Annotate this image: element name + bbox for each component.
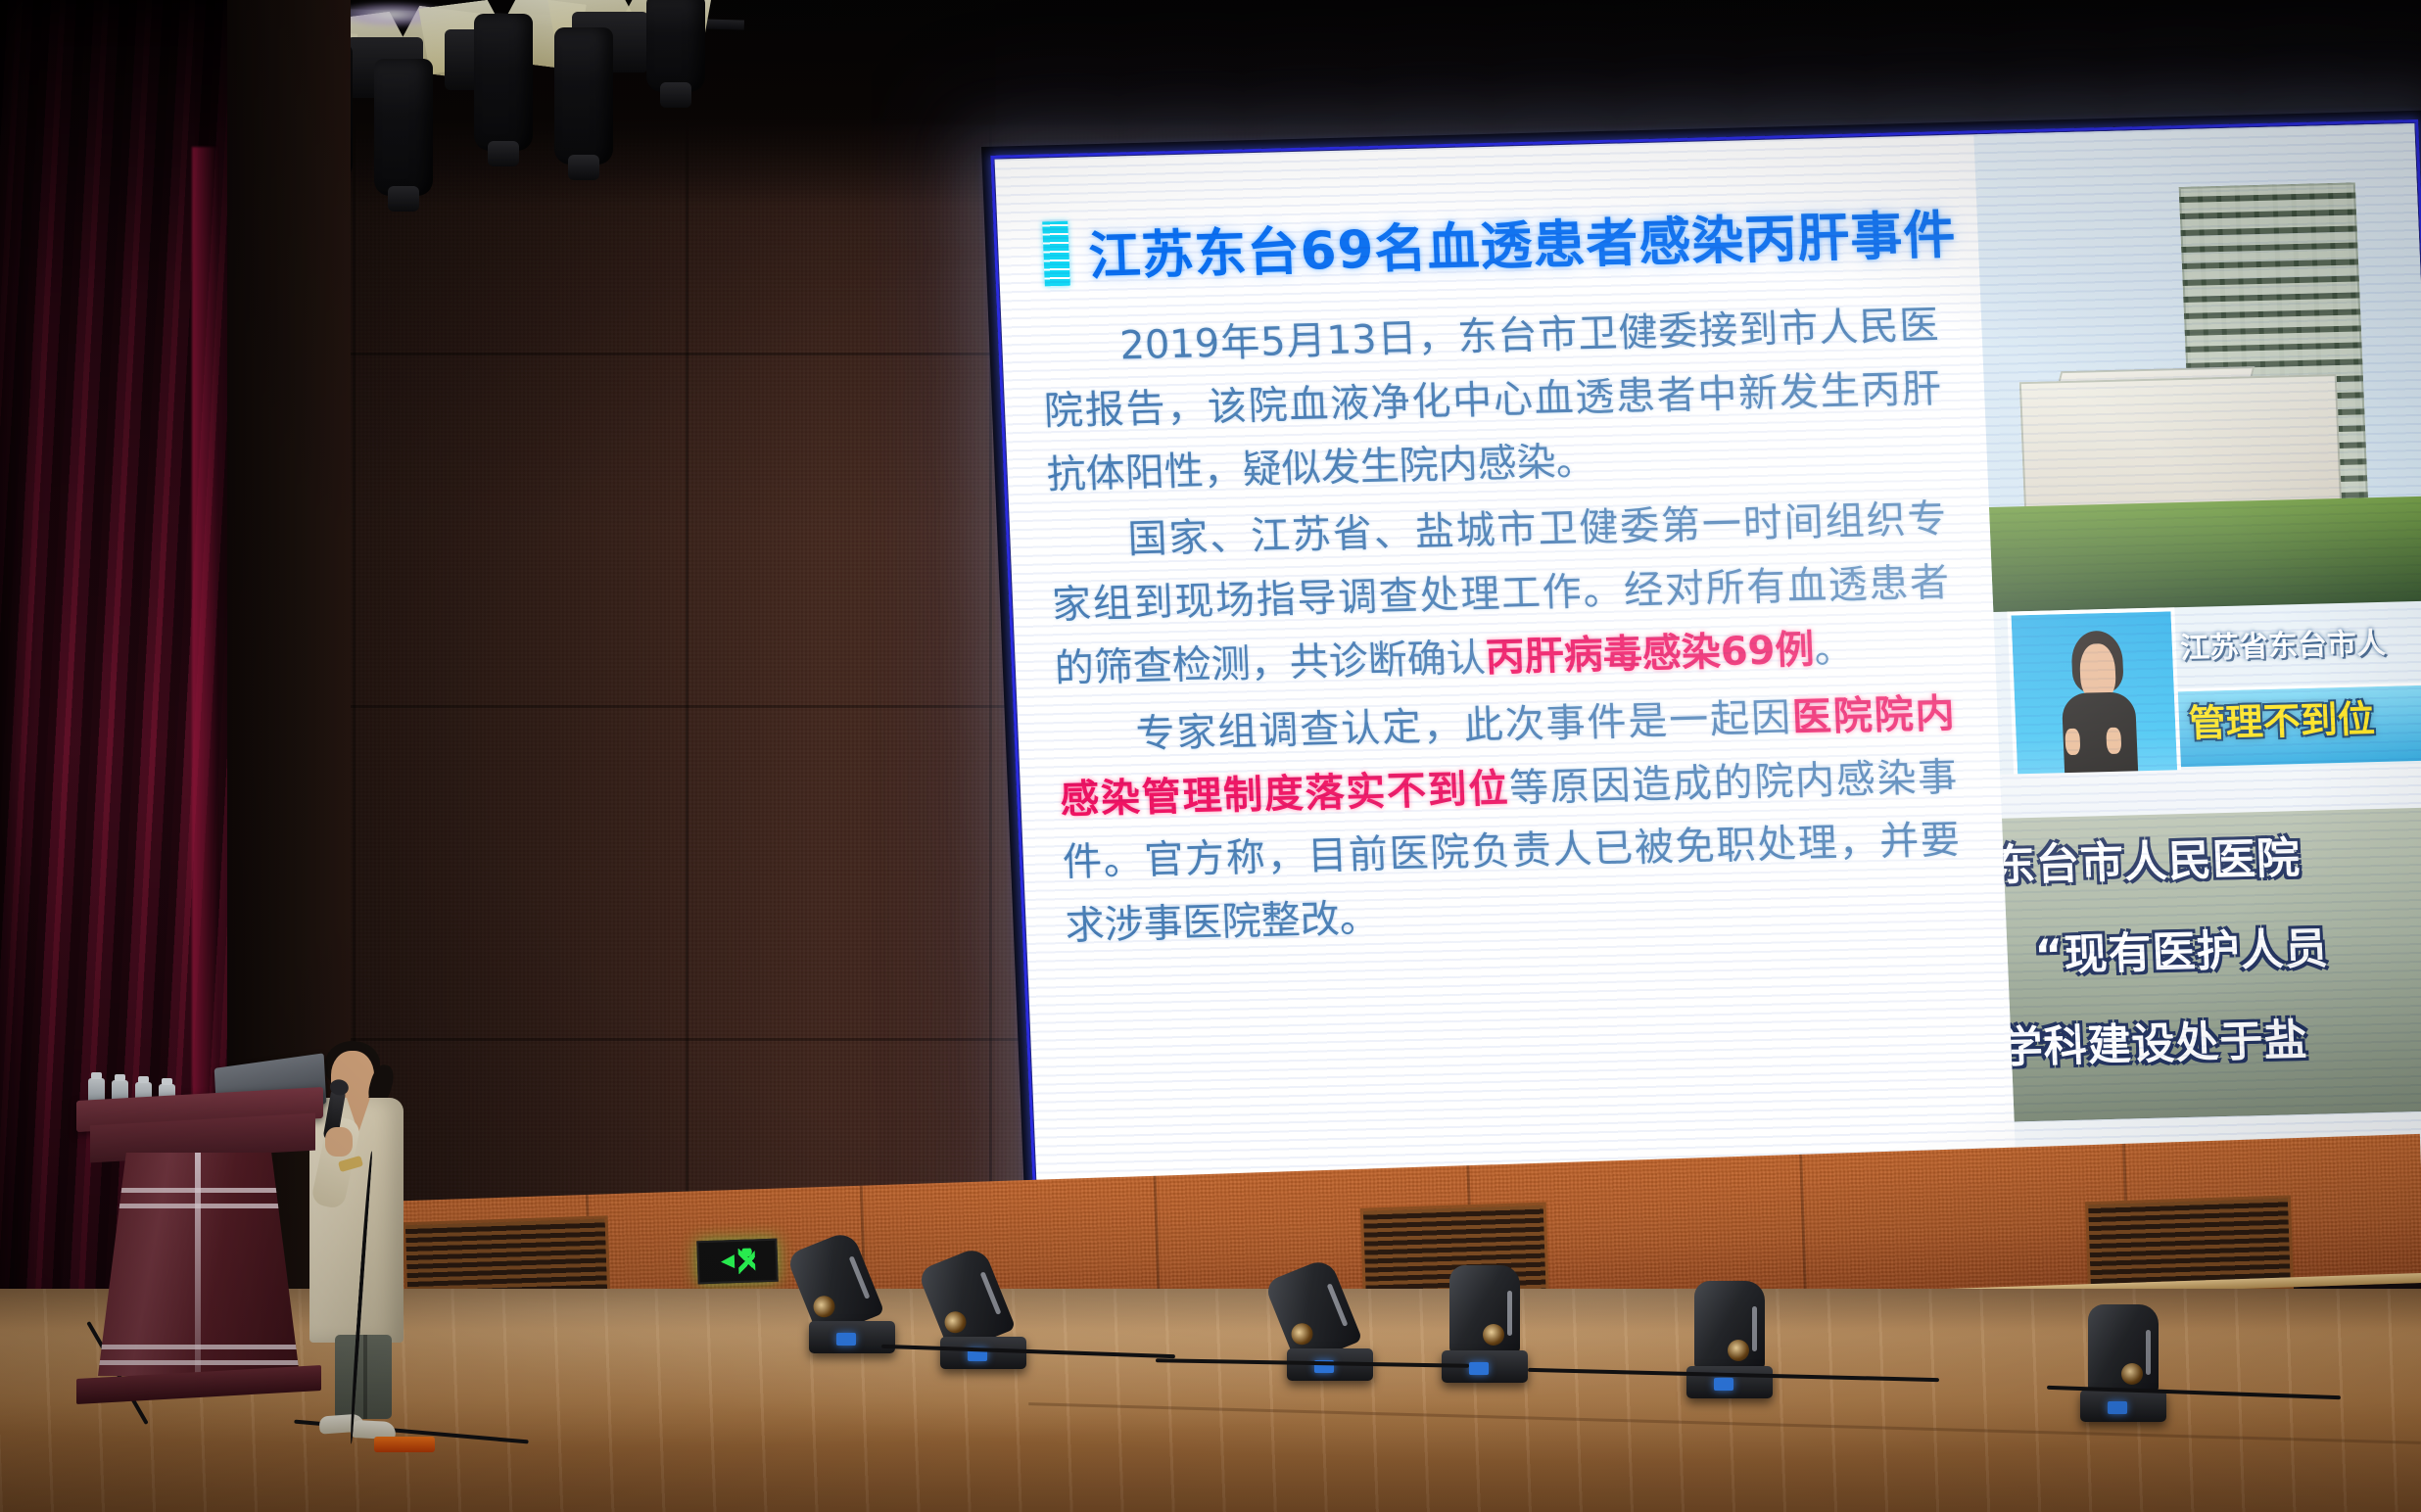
presentation-slide: 江苏东台69名血透患者感染丙肝事件 2019年5月13日，东台市卫健委接到市人民… [995,123,2421,1245]
moving-head-light [1685,1281,1775,1398]
emergency-exit-sign [696,1239,778,1285]
slide-title: 江苏东台69名血透患者感染丙肝事件 [1087,194,1958,290]
slide-paragraph: 2019年5月13日，东台市卫健委接到市人民医院报告，该院血液净化中心血透患者中… [1040,294,1945,506]
truss-spotlight-icon [554,27,613,165]
slide-title-row: 江苏东台69名血透患者感染丙肝事件 [1042,194,1954,291]
speaker-legs [335,1335,392,1419]
slide-paragraph: 国家、江苏省、盐城市卫健委第一时间组织专家组到现场指导调查处理工作。经对所有血透… [1048,489,1953,701]
slide-text-column: 江苏东台69名血透患者感染丙肝事件 2019年5月13日，东台市卫健委接到市人民… [995,134,2018,1244]
body-text: 专家组调查认定，此次事件是一起因 [1135,695,1793,757]
body-text: 2019年5月13日，东台市卫健委接到市人民医院报告，该院血液净化中心血透患者中… [1043,303,1942,497]
auditorium-scene: 江苏东台69名血透患者感染丙肝事件 2019年5月13日，东台市卫健委接到市人民… [0,0,2421,1512]
highlighted-text: 丙肝病毒感染69例 [1485,628,1815,681]
news-screenshot-image: 江苏省东台市人 管理不到位 东台市人民医院 “现有医护人员 学科建设处于盐 [1973,123,2421,1219]
news-banner-text: 管理不到位 [2187,688,2375,747]
podium-body [98,1153,300,1376]
news-caption-line: 江苏省东台市人 [2179,618,2387,666]
title-bullet-bar-icon [1042,221,1070,287]
running-man-icon [737,1248,755,1274]
slide-paragraph: 专家组调查认定，此次事件是一起因医院院内感染管理制度落实不到位等原因造成的院内感… [1056,683,1963,959]
moving-head-light [807,1236,897,1353]
news-yellow-banner: 管理不到位 [2177,681,2421,767]
floor-power-strip [374,1437,435,1452]
news-lower-third: 东台市人民医院 “现有医护人员 学科建设处于盐 [2002,807,2421,1122]
podium-and-speaker [69,1033,480,1493]
truss-spotlight-icon [474,14,533,151]
moving-head-light [2078,1304,2168,1422]
news-lower-line: “现有医护人员 [2033,914,2329,984]
projection-screen: 江苏东台69名血透患者感染丙肝事件 2019年5月13日，东台市卫健委接到市人民… [981,111,2421,1257]
body-text: 。 [1814,627,1855,673]
hospital-building-photo [1973,123,2421,612]
speaker-hand [325,1127,353,1157]
news-lower-line: 东台市人民医院 [2002,823,2302,893]
truss-spotlight-icon [374,59,433,196]
slide-body: 2019年5月13日，东台市卫健委接到市人民医院报告，该院血液净化中心血透患者中… [1040,294,1981,959]
exit-arrow-left-icon [720,1254,734,1268]
news-lower-line: 学科建设处于盐 [2002,1005,2309,1075]
truss-spotlight-icon [646,0,705,92]
